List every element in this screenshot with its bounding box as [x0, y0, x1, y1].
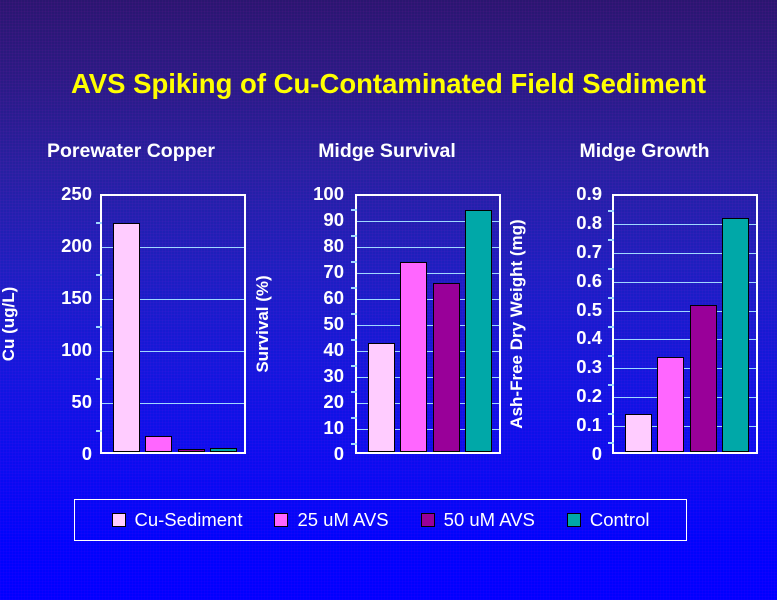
bar-midge-survival-0	[368, 343, 395, 452]
legend-swatch-icon	[567, 513, 581, 527]
y-tick-label: 50	[71, 393, 92, 412]
y-tick-label: 0.8	[576, 214, 602, 233]
legend-label: Cu-Sediment	[135, 509, 243, 531]
y-tick-label: 0.5	[576, 300, 602, 319]
y-axis-tick-labels-midge-survival: 0102030405060708090100	[298, 140, 344, 470]
bar-porewater-copper-1	[145, 436, 172, 452]
y-tick-label: 20	[323, 393, 344, 412]
legend-swatch-icon	[112, 513, 126, 527]
bar-porewater-copper-3	[210, 448, 237, 452]
y-tick-label: 0.1	[576, 416, 602, 435]
plot-area-midge-growth	[612, 194, 758, 454]
y-axis-title-midge-survival: Survival (%)	[253, 174, 273, 474]
slide-title: AVS Spiking of Cu-Contaminated Field Sed…	[0, 68, 777, 100]
y-tick-label: 80	[323, 237, 344, 256]
y-tick-label: 0	[334, 445, 344, 464]
legend-label: 25 uM AVS	[297, 509, 388, 531]
legend-swatch-icon	[421, 513, 435, 527]
bar-midge-growth-3	[722, 218, 749, 452]
y-tick-label: 0	[82, 445, 92, 464]
chart-panel-porewater-copper: Porewater CopperCu (ug/L)050100150200250	[0, 140, 262, 470]
y-tick-label: 0.3	[576, 358, 602, 377]
y-tick-label: 150	[61, 289, 92, 308]
legend-item-2: 50 uM AVS	[421, 509, 535, 531]
bar-midge-growth-1	[657, 357, 684, 452]
y-tick-label: 250	[61, 185, 92, 204]
chart-title-porewater-copper: Porewater Copper	[0, 140, 262, 163]
y-tick-label: 0.6	[576, 271, 602, 290]
y-tick-label: 100	[313, 185, 344, 204]
presentation-slide: AVS Spiking of Cu-Contaminated Field Sed…	[0, 0, 777, 600]
y-tick-label: 10	[323, 419, 344, 438]
legend-swatch-icon	[274, 513, 288, 527]
y-tick-label: 0.7	[576, 243, 602, 262]
y-tick-label: 200	[61, 237, 92, 256]
y-tick-label: 0	[592, 445, 602, 464]
y-tick-label: 40	[323, 341, 344, 360]
bar-midge-survival-1	[400, 262, 427, 452]
legend-item-3: Control	[567, 509, 650, 531]
y-axis-tick-labels-midge-growth: 00.10.20.30.40.50.60.70.80.9	[556, 140, 602, 470]
legend-label: 50 uM AVS	[444, 509, 535, 531]
y-tick-label: 60	[323, 289, 344, 308]
bar-midge-growth-2	[690, 305, 717, 452]
legend-item-1: 25 uM AVS	[274, 509, 388, 531]
y-tick-label: 0.9	[576, 185, 602, 204]
legend-item-0: Cu-Sediment	[112, 509, 243, 531]
y-tick-label: 0.2	[576, 387, 602, 406]
bar-midge-survival-2	[433, 283, 460, 452]
bar-midge-survival-3	[465, 210, 492, 452]
chart-panel-midge-growth: Midge GrowthAsh-Free Dry Weight (mg)00.1…	[512, 140, 777, 470]
bars-group-midge-survival	[357, 196, 499, 452]
y-axis-tick-labels-porewater-copper: 050100150200250	[46, 140, 92, 470]
plot-area-porewater-copper	[100, 194, 246, 454]
y-tick-label: 50	[323, 315, 344, 334]
bars-group-porewater-copper	[102, 196, 244, 452]
y-tick-label: 100	[61, 341, 92, 360]
plot-area-midge-survival	[355, 194, 501, 454]
chart-panel-midge-survival: Midge SurvivalSurvival (%)01020304050607…	[262, 140, 512, 470]
chart-title-midge-growth: Midge Growth	[512, 140, 777, 163]
legend-label: Control	[590, 509, 650, 531]
bar-porewater-copper-0	[113, 223, 140, 452]
bar-midge-growth-0	[625, 414, 652, 452]
y-tick-label: 0.4	[576, 329, 602, 348]
y-axis-title-porewater-copper: Cu (ug/L)	[0, 174, 19, 474]
y-tick-label: 30	[323, 367, 344, 386]
y-tick-label: 90	[323, 211, 344, 230]
y-tick-label: 70	[323, 263, 344, 282]
bar-porewater-copper-2	[178, 449, 205, 452]
chart-legend: Cu-Sediment25 uM AVS50 uM AVSControl	[74, 499, 687, 541]
y-axis-title-midge-growth: Ash-Free Dry Weight (mg)	[507, 174, 527, 474]
bars-group-midge-growth	[614, 196, 756, 452]
